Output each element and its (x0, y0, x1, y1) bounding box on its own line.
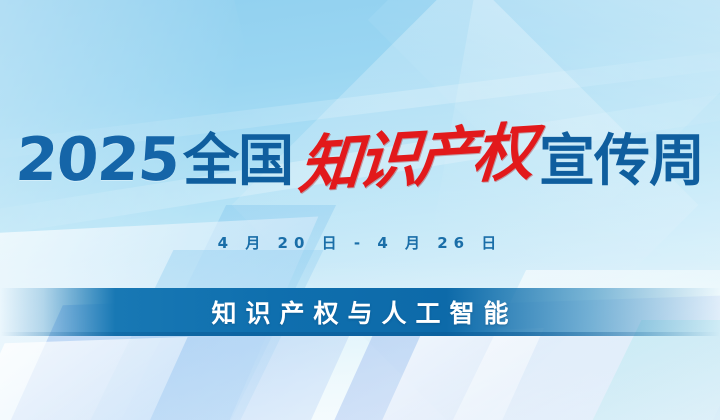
headline-highlight-calligraphy: 知识产权 (297, 121, 533, 198)
background-wash-left (0, 0, 339, 420)
poster-date-range: 4 月 20 日 - 4 月 26 日 (0, 232, 720, 253)
poster-subtitle-bar: 知识产权与人工智能 (0, 288, 720, 336)
headline-year: 2025 (14, 130, 181, 190)
poster-headline: 2025 全国 知识产权 宣传周 (0, 128, 720, 190)
background-sheet-left-pale (0, 337, 188, 420)
background-diamond-center (232, 0, 699, 420)
background-wash-bottom (0, 260, 720, 420)
headline-publicity-week: 宣传周 (539, 134, 704, 190)
background-wash-right (400, 0, 720, 420)
promo-poster: 2025 全国 知识产权 宣传周 4 月 20 日 - 4 月 26 日 知识产… (0, 0, 720, 420)
poster-subtitle-text: 知识产权与人工智能 (202, 294, 517, 330)
background-sheet-right-thin (336, 328, 544, 420)
background-diamond-upper (368, 0, 720, 232)
headline-national: 全国 (183, 134, 293, 190)
